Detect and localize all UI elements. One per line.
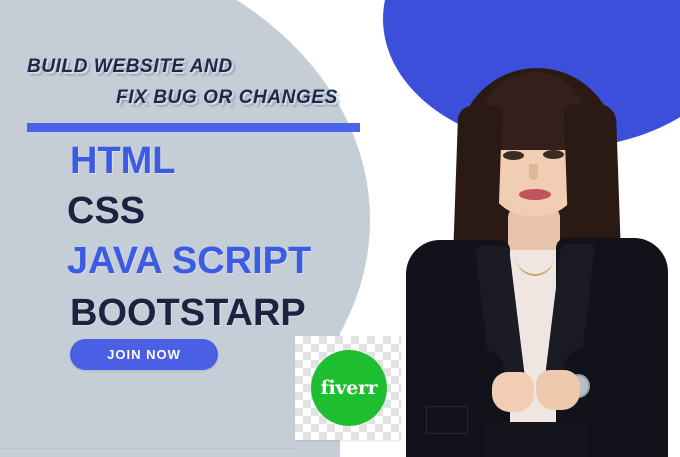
tech-item-javascript: JAVA SCRIPT bbox=[0, 242, 380, 280]
join-now-button[interactable]: JOIN NOW bbox=[70, 339, 218, 370]
tech-stack-list: HTML CSS JAVA SCRIPT BOOTSTARP bbox=[0, 142, 380, 332]
blazer-pocket bbox=[426, 406, 468, 434]
tech-item-bootstrap: BOOTSTARP bbox=[0, 294, 380, 332]
hand-right bbox=[536, 370, 580, 410]
eye-left bbox=[503, 151, 524, 160]
headline-underline-bar bbox=[27, 123, 360, 132]
fiverr-logo-icon: fiverr bbox=[311, 350, 387, 426]
tech-item-html: HTML bbox=[0, 142, 380, 180]
bottom-divider-line bbox=[0, 448, 300, 449]
hand-left bbox=[492, 372, 534, 412]
presenter-photo bbox=[388, 54, 680, 457]
headline-line-2: FIX BUG OR CHANGES bbox=[0, 87, 372, 109]
fiverr-wordmark: fiverr bbox=[321, 379, 378, 398]
eye-right bbox=[543, 150, 564, 159]
headline-line-1: BUILD WEBSITE AND bbox=[0, 56, 372, 78]
tech-item-css: CSS bbox=[0, 192, 380, 230]
lips bbox=[519, 189, 551, 200]
gig-banner: BUILD WEBSITE AND FIX BUG OR CHANGES HTM… bbox=[0, 0, 680, 457]
skirt bbox=[484, 422, 588, 457]
fiverr-logo-card: fiverr bbox=[295, 336, 401, 440]
nose bbox=[529, 164, 538, 180]
headline: BUILD WEBSITE AND FIX BUG OR CHANGES bbox=[0, 56, 372, 109]
